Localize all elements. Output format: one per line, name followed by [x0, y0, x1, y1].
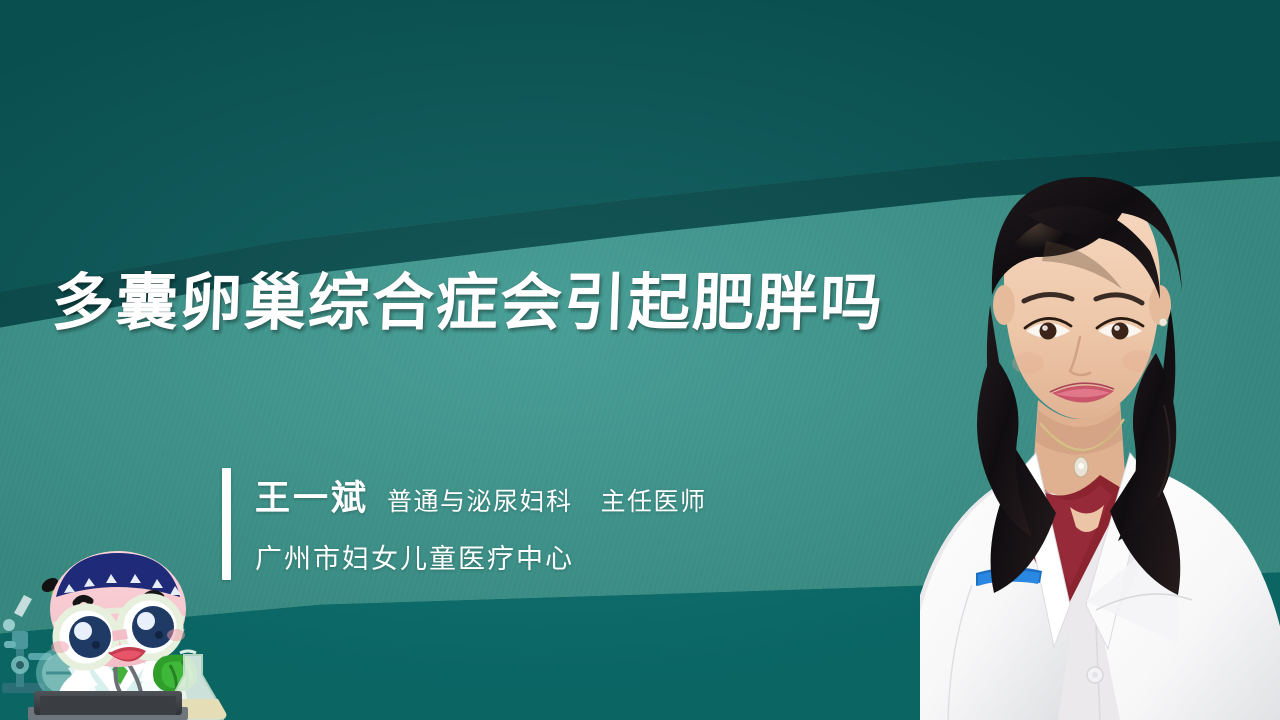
doctor-hospital: 广州市妇女儿童医疗中心 [255, 537, 707, 576]
page-title: 多囊卵巢综合症会引起肥胖吗 [51, 272, 885, 334]
doctor-department: 普通与泌尿妇科 [387, 482, 573, 518]
doctor-info-row-primary: 王一斌 普通与泌尿妇科 主任医师 [255, 470, 707, 521]
doctor-rank: 主任医师 [601, 482, 707, 518]
doctor-portrait-icon [920, 155, 1280, 720]
doctor-info-text: 王一斌 普通与泌尿妇科 主任医师 广州市妇女儿童医疗中心 [255, 468, 707, 580]
video-cover-canvas: 多囊卵巢综合症会引起肥胖吗 王一斌 普通与泌尿妇科 主任医师 广州市妇女儿童医疗… [0, 0, 1280, 720]
doctor-name: 王一斌 [255, 470, 369, 521]
doctor-info-block: 王一斌 普通与泌尿妇科 主任医师 广州市妇女儿童医疗中心 [222, 468, 707, 580]
monitor-icon [28, 691, 188, 720]
lab-mascot-icon [0, 485, 235, 720]
